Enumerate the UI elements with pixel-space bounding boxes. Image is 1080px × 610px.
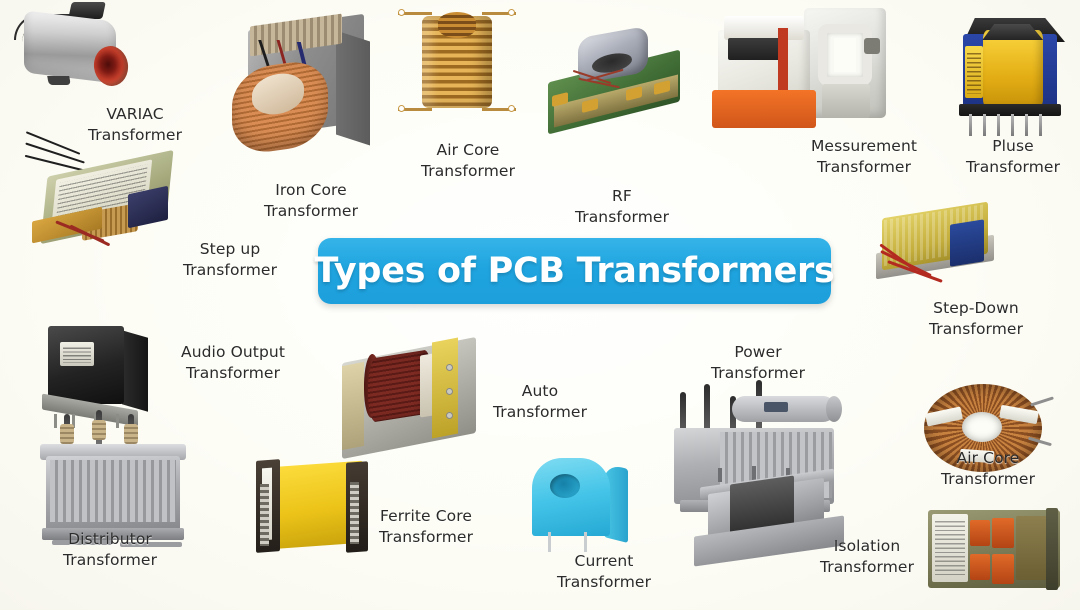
label-line-1: Iron Core (234, 180, 388, 201)
label-line-1: RF (546, 186, 698, 207)
label-current-transformer: Current Transformer (528, 551, 680, 592)
label-line-1: Distributor (34, 529, 186, 550)
iron-core-transformer-image (228, 18, 376, 158)
label-rf-transformer: RF Transformer (546, 186, 698, 227)
label-line-2: Transformer (783, 157, 945, 178)
label-line-2: Transformer (791, 557, 943, 578)
label-step-up-transformer: Step up Transformer (152, 239, 308, 280)
rf-transformer-image (548, 30, 688, 135)
label-line-2: Transformer (898, 319, 1054, 340)
label-ferrite-core-transformer: Ferrite Core Transformer (348, 506, 504, 547)
label-pluse-transformer: Pluse Transformer (935, 136, 1080, 177)
label-line-2: Transformer (152, 260, 308, 281)
pluse-transformer-image (955, 14, 1069, 140)
label-line-1: Power (682, 342, 834, 363)
label-line-2: Transformer (912, 469, 1064, 490)
infographic-canvas: VARIAC Transformer Iron Core Transformer… (0, 0, 1080, 610)
title-banner: Types of PCB Transformers (318, 238, 831, 304)
label-isolation-transformer: Isolation Transformer (791, 536, 943, 577)
label-air-core-toroid-transformer: Air Core Transformer (912, 448, 1064, 489)
label-line-2: Transformer (935, 157, 1080, 178)
label-power-transformer: Power Transformer (682, 342, 834, 383)
label-line-2: Transformer (234, 201, 388, 222)
label-line-2: Transformer (60, 125, 210, 146)
messurement-transformer-image (712, 8, 894, 134)
label-line-1: Step-Down (898, 298, 1054, 319)
step-down-transformer-image (876, 200, 1002, 304)
label-line-1: Pluse (935, 136, 1080, 157)
label-line-2: Transformer (392, 161, 544, 182)
label-variac-transformer: VARIAC Transformer (60, 104, 210, 145)
label-line-1: Ferrite Core (348, 506, 504, 527)
auto-transformer-image (342, 330, 482, 456)
label-line-2: Transformer (348, 527, 504, 548)
page-title: Types of PCB Transformers (315, 251, 835, 291)
label-line-1: Messurement (783, 136, 945, 157)
label-line-1: Auto (464, 381, 616, 402)
label-line-2: Transformer (34, 550, 186, 571)
label-line-2: Transformer (546, 207, 698, 228)
label-auto-transformer: Auto Transformer (464, 381, 616, 422)
label-line-2: Transformer (152, 363, 314, 384)
current-transformer-image (522, 452, 634, 558)
label-audio-output-transformer: Audio Output Transformer (152, 342, 314, 383)
label-line-1: Step up (152, 239, 308, 260)
label-iron-core-transformer: Iron Core Transformer (234, 180, 388, 221)
label-line-2: Transformer (682, 363, 834, 384)
label-distributor-transformer: Distributor Transformer (34, 529, 186, 570)
label-line-1: Audio Output (152, 342, 314, 363)
variac-transformer-image (8, 2, 134, 94)
label-line-1: Current (528, 551, 680, 572)
label-messurement-transformer: Messurement Transformer (783, 136, 945, 177)
air-core-transformer-image (398, 4, 518, 118)
label-line-1: Air Core (912, 448, 1064, 469)
label-line-1: VARIAC (60, 104, 210, 125)
label-step-down-transformer: Step-Down Transformer (898, 298, 1054, 339)
label-line-1: Air Core (392, 140, 544, 161)
label-air-core-transformer: Air Core Transformer (392, 140, 544, 181)
label-line-2: Transformer (464, 402, 616, 423)
label-line-1: Isolation (791, 536, 943, 557)
label-line-2: Transformer (528, 572, 680, 593)
